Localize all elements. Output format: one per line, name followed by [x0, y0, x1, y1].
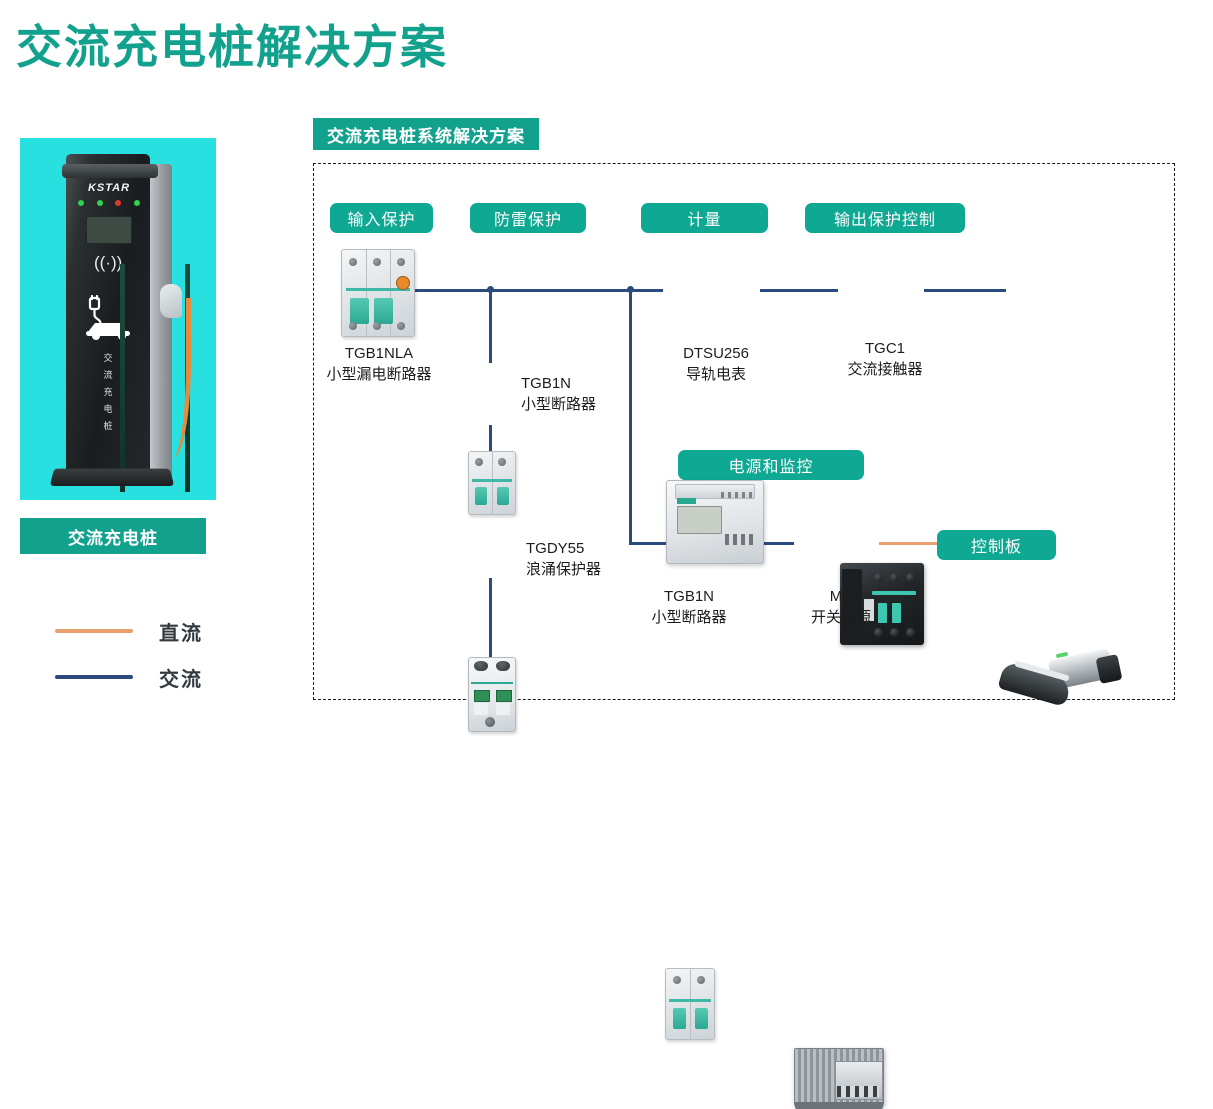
- category-pill-power-monitoring: 电源和监控: [678, 450, 864, 480]
- category-pill-input-protection: 输入保护: [330, 203, 433, 233]
- wire-ac-branch-to-power: [629, 289, 632, 545]
- model-ms: MS: [830, 588, 853, 605]
- name-tgb1nla: 小型漏电断路器: [326, 366, 431, 383]
- caption-ms: MS 开关电源: [780, 586, 902, 628]
- legend-label-dc: 直流: [159, 617, 203, 646]
- wire-ac-contactor-to-gun: [924, 289, 1006, 292]
- device-ev-charging-gun: [1000, 648, 1112, 718]
- model-tgc1: TGC1: [865, 340, 905, 357]
- wire-ac-main-bus: [410, 289, 663, 292]
- caption-tgb1n-lower: TGB1N 小型断路器: [623, 586, 755, 628]
- legend-label-ac: 交流: [159, 663, 203, 692]
- category-pill-metering: 计量: [641, 203, 768, 233]
- control-board-pill: 控制板: [937, 530, 1056, 560]
- wire-ac-meter-to-contactor: [760, 289, 838, 292]
- legend-swatch-ac: [55, 675, 133, 679]
- model-dtsu256: DTSU256: [683, 345, 749, 362]
- category-pill-surge-protection: 防雷保护: [470, 203, 586, 233]
- charger-display: [86, 216, 132, 244]
- wire-junction-power: [627, 286, 634, 293]
- category-pill-output-control: 输出保护控制: [805, 203, 965, 233]
- wire-ac-branch-to-mcb: [489, 289, 492, 363]
- ev-charging-car-icon: [82, 294, 138, 340]
- charger-vertical-label: 交流充电桩: [94, 350, 122, 435]
- legend: 直流 交流: [55, 608, 265, 700]
- name-tgc1: 交流接触器: [847, 361, 922, 378]
- legend-swatch-dc: [55, 629, 133, 633]
- name-ms: 开关电源: [811, 609, 871, 626]
- charger-body: KSTAR ((·)) 交流充电桩: [66, 154, 150, 484]
- model-tgb1n-lower: TGB1N: [664, 588, 714, 605]
- product-caption: 交流充电桩: [20, 518, 206, 554]
- legend-item-ac: 交流: [55, 654, 265, 700]
- caption-tgb1n-upper: TGB1N 小型断路器: [521, 373, 641, 415]
- model-tgdy55: TGDY55: [526, 540, 584, 557]
- charger-top-cap: [62, 164, 158, 178]
- device-power-supply-ms: [794, 1048, 884, 1106]
- model-tgb1n-upper: TGB1N: [521, 375, 571, 392]
- device-mcb-tgb1n-lower: [665, 968, 715, 1040]
- legend-item-dc: 直流: [55, 608, 265, 654]
- device-rcbo-tgb1nla: [341, 249, 415, 337]
- wire-dc-psu-to-control-board: [879, 542, 937, 545]
- product-photo: KSTAR ((·)) 交流充电桩: [20, 138, 216, 500]
- charger-brand-logo: KSTAR: [76, 182, 142, 194]
- caption-tgdy55: TGDY55 浪涌保护器: [526, 538, 646, 580]
- name-tgb1n-lower: 小型断路器: [651, 609, 726, 626]
- charger-base: [50, 469, 175, 486]
- wire-ac-spd-to-ground: [489, 578, 492, 663]
- diagram-banner: 交流充电桩系统解决方案: [313, 118, 539, 150]
- rfid-wave-icon: ((·)): [94, 252, 122, 274]
- charger-led-row: [78, 200, 140, 206]
- model-tgb1nla: TGB1NLA: [345, 345, 413, 362]
- device-meter-dtsu256: [666, 480, 764, 564]
- caption-tgb1nla: TGB1NLA 小型漏电断路器: [284, 343, 474, 385]
- name-dtsu256: 导轨电表: [686, 366, 746, 383]
- caption-dtsu256: DTSU256 导轨电表: [626, 343, 806, 385]
- caption-tgc1: TGC1 交流接触器: [810, 338, 960, 380]
- name-tgdy55: 浪涌保护器: [526, 561, 601, 578]
- device-mcb-tgb1n-upper: [468, 451, 516, 515]
- device-spd-tgdy55: [468, 657, 516, 732]
- page-title: 交流充电桩解决方案: [16, 22, 448, 73]
- name-tgb1n-upper: 小型断路器: [521, 396, 596, 413]
- wire-junction-mcb: [487, 286, 494, 293]
